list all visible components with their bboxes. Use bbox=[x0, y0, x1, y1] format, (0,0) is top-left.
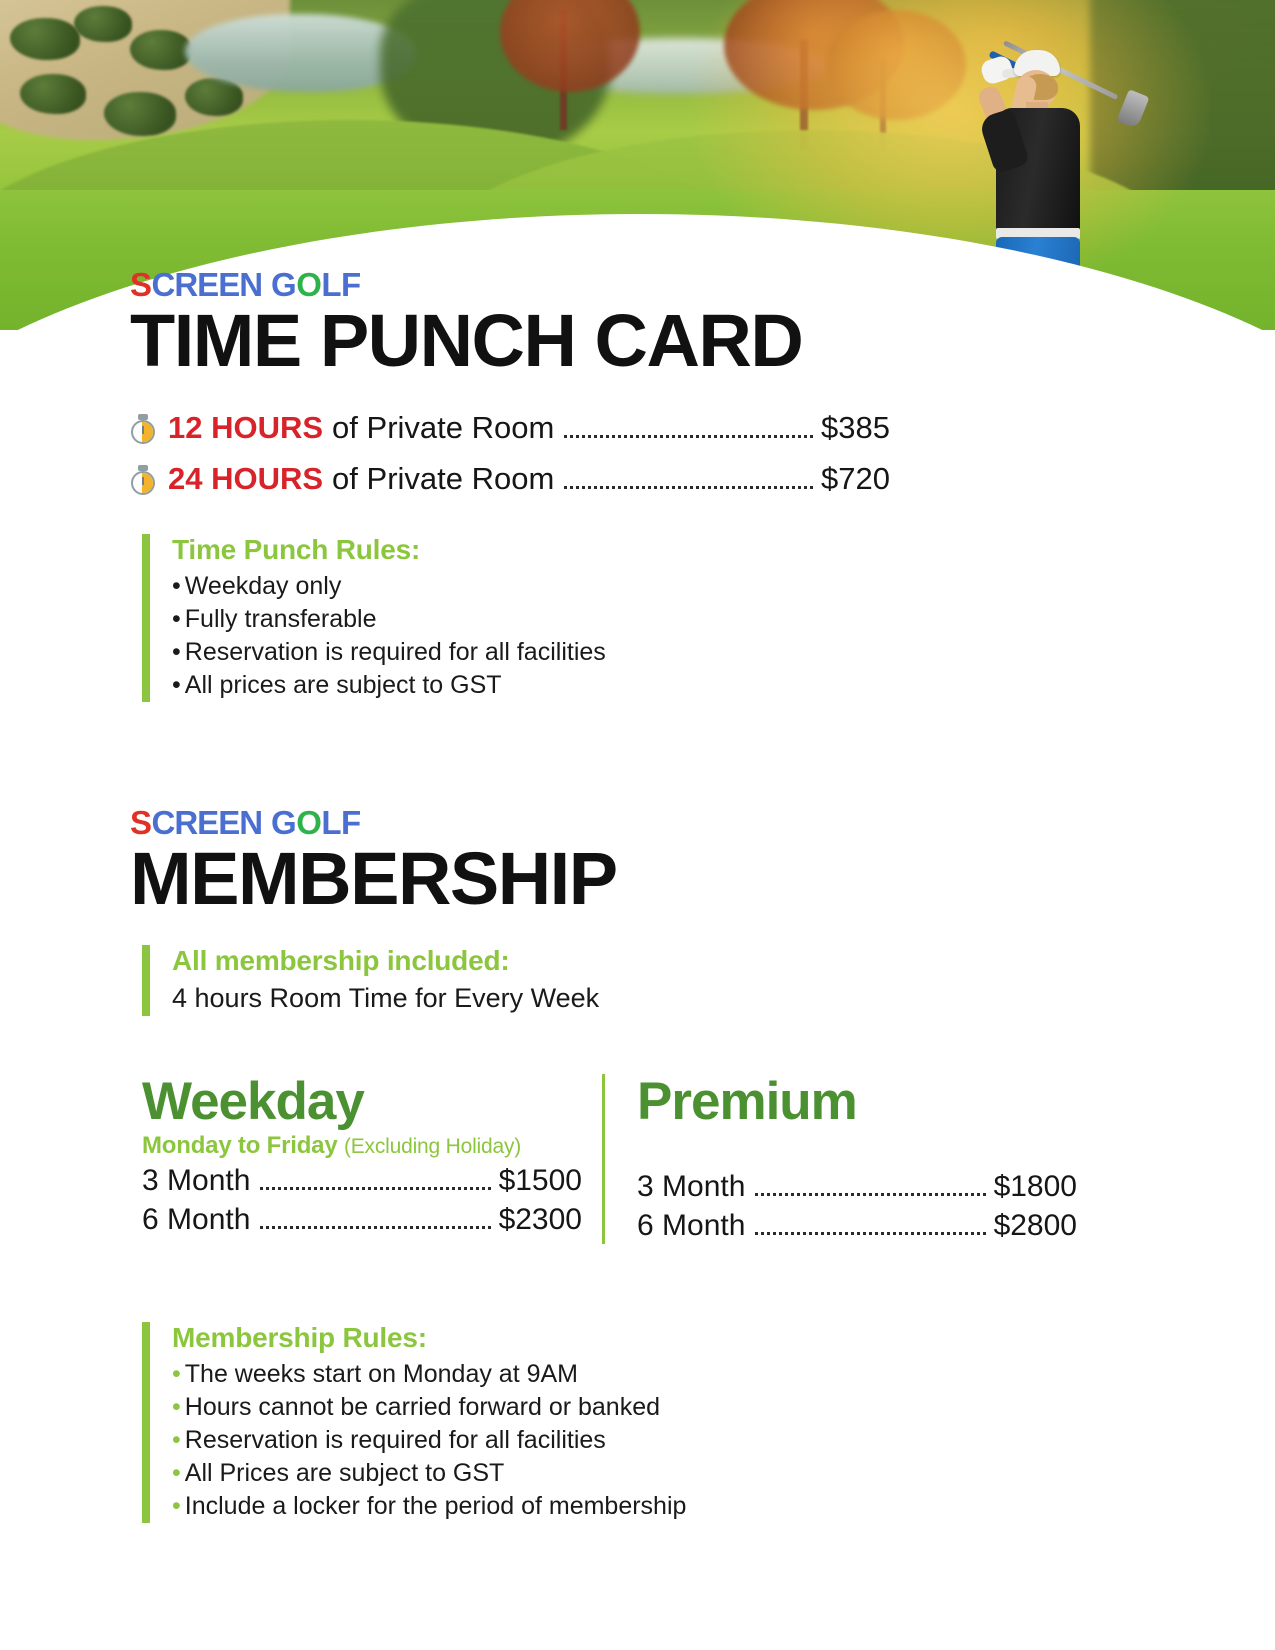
plan-row: 6 Month $2300 bbox=[142, 1203, 582, 1238]
plan-subtitle: Monday to Friday (Excluding Holiday) bbox=[142, 1132, 602, 1160]
bullet-icon: • bbox=[172, 1393, 181, 1421]
rule-text: Include a locker for the period of membe… bbox=[185, 1492, 687, 1520]
rule-text: All prices are subject to GST bbox=[185, 671, 502, 699]
leader-dots bbox=[260, 1186, 490, 1190]
membership-rules: Membership Rules: •The weeks start on Mo… bbox=[142, 1322, 1275, 1523]
time-punch-rules: Time Punch Rules: •Weekday only •Fully t… bbox=[142, 534, 1275, 702]
logo-letter-o: O bbox=[296, 266, 321, 303]
plan-name: Premium bbox=[637, 1074, 1097, 1130]
price-row: 12 HOURS of Private Room $385 bbox=[130, 410, 890, 447]
plan-duration-label: 6 Month bbox=[637, 1209, 745, 1243]
punch-hours-label: 24 HOURS bbox=[168, 461, 323, 497]
rule-item: •The weeks start on Monday at 9AM bbox=[172, 1358, 1275, 1391]
brand-logo: SCREENGOLF bbox=[130, 806, 1275, 839]
rule-text: Hours cannot be carried forward or banke… bbox=[185, 1393, 660, 1421]
rule-text: Fully transferable bbox=[185, 605, 377, 633]
membership-included-block: All membership included: 4 hours Room Ti… bbox=[142, 945, 1275, 1016]
brand-logo: SCREENGOLF bbox=[130, 268, 1275, 301]
membership-rules-section: Membership Rules: •The weeks start on Mo… bbox=[0, 1322, 1275, 1523]
logo-letters-creen: CREEN bbox=[152, 804, 263, 841]
shrub-icon bbox=[20, 74, 86, 114]
leader-dots bbox=[564, 434, 813, 438]
page-title-membership: MEMBERSHIP bbox=[130, 841, 1275, 916]
stopwatch-icon bbox=[130, 414, 156, 444]
rule-item: •All prices are subject to GST bbox=[172, 669, 1275, 702]
shrub-icon bbox=[74, 6, 132, 42]
shrub-icon bbox=[130, 30, 192, 70]
plan-weekday: Weekday Monday to Friday (Excluding Holi… bbox=[142, 1074, 602, 1244]
plan-price-value: $1500 bbox=[499, 1164, 582, 1198]
logo-letter-s: S bbox=[130, 266, 152, 303]
bullet-icon: • bbox=[172, 605, 181, 633]
plan-name: Weekday bbox=[142, 1074, 602, 1130]
punch-price-list: 12 HOURS of Private Room $385 24 HOURS o… bbox=[130, 410, 1275, 498]
punch-desc-label: of Private Room bbox=[332, 410, 554, 446]
plan-row: 3 Month $1500 bbox=[142, 1164, 582, 1199]
time-punch-section: SCREENGOLF TIME PUNCH CARD 12 HOURS of P… bbox=[0, 268, 1275, 702]
plan-duration-label: 3 Month bbox=[142, 1164, 250, 1198]
rule-item: •Include a locker for the period of memb… bbox=[172, 1490, 1275, 1523]
logo-letter-g: G bbox=[271, 266, 296, 303]
included-heading: All membership included: bbox=[172, 945, 1275, 977]
included-text: 4 hours Room Time for Every Week bbox=[172, 981, 1275, 1016]
bullet-icon: • bbox=[172, 638, 181, 666]
rule-item: •Reservation is required for all facilit… bbox=[172, 636, 1275, 669]
rule-text: Reservation is required for all faciliti… bbox=[185, 638, 606, 666]
punch-desc-label: of Private Room bbox=[332, 461, 554, 497]
shrub-icon bbox=[10, 18, 80, 60]
bullet-icon: • bbox=[172, 671, 181, 699]
plan-price-value: $2300 bbox=[499, 1203, 582, 1237]
logo-letter-o: O bbox=[296, 804, 321, 841]
stopwatch-icon bbox=[130, 465, 156, 495]
punch-hours-label: 12 HOURS bbox=[168, 410, 323, 446]
bullet-icon: • bbox=[172, 1492, 181, 1520]
leader-dots bbox=[260, 1225, 490, 1229]
rules-heading: Membership Rules: bbox=[172, 1322, 1275, 1354]
rule-item: •Reservation is required for all facilit… bbox=[172, 1424, 1275, 1457]
plan-price-value: $1800 bbox=[994, 1170, 1077, 1204]
bullet-icon: • bbox=[172, 572, 181, 600]
price-row: 24 HOURS of Private Room $720 bbox=[130, 461, 890, 498]
plan-row: 3 Month $1800 bbox=[637, 1170, 1077, 1205]
plan-price-value: $2800 bbox=[994, 1209, 1077, 1243]
bullet-icon: • bbox=[172, 1426, 181, 1454]
plan-subtitle-note: (Excluding Holiday) bbox=[344, 1135, 521, 1158]
logo-letters-lf: LF bbox=[321, 266, 360, 303]
plan-spacer bbox=[637, 1130, 1097, 1166]
punch-price-value: $385 bbox=[821, 410, 890, 446]
bullet-icon: • bbox=[172, 1360, 181, 1388]
leader-dots bbox=[755, 1231, 985, 1235]
rule-item: •Fully transferable bbox=[172, 603, 1275, 636]
logo-letter-g: G bbox=[271, 804, 296, 841]
rule-item: •Weekday only bbox=[172, 570, 1275, 603]
rule-text: All Prices are subject to GST bbox=[185, 1459, 505, 1487]
shrub-icon bbox=[104, 92, 176, 136]
rule-item: •Hours cannot be carried forward or bank… bbox=[172, 1391, 1275, 1424]
rules-heading: Time Punch Rules: bbox=[172, 534, 1275, 566]
plan-row: 6 Month $2800 bbox=[637, 1209, 1077, 1244]
bullet-icon: • bbox=[172, 1459, 181, 1487]
logo-letters-creen: CREEN bbox=[152, 266, 263, 303]
rule-text: The weeks start on Monday at 9AM bbox=[185, 1360, 578, 1388]
rule-text: Reservation is required for all faciliti… bbox=[185, 1426, 606, 1454]
plan-duration-label: 6 Month bbox=[142, 1203, 250, 1237]
leader-dots bbox=[755, 1192, 985, 1196]
plan-duration-label: 3 Month bbox=[637, 1170, 745, 1204]
logo-letter-s: S bbox=[130, 804, 152, 841]
rule-item: •All Prices are subject to GST bbox=[172, 1457, 1275, 1490]
plan-subtitle-main: Monday to Friday bbox=[142, 1132, 337, 1159]
punch-price-value: $720 bbox=[821, 461, 890, 497]
page-title-time-punch: TIME PUNCH CARD bbox=[130, 303, 1275, 378]
logo-letters-lf: LF bbox=[321, 804, 360, 841]
plan-premium: Premium 3 Month $1800 6 Month $2800 bbox=[602, 1074, 1097, 1244]
rule-text: Weekday only bbox=[185, 572, 342, 600]
membership-plans: Weekday Monday to Friday (Excluding Holi… bbox=[0, 1074, 1275, 1244]
membership-section: SCREENGOLF MEMBERSHIP All membership inc… bbox=[0, 806, 1275, 1016]
leader-dots bbox=[564, 485, 813, 489]
